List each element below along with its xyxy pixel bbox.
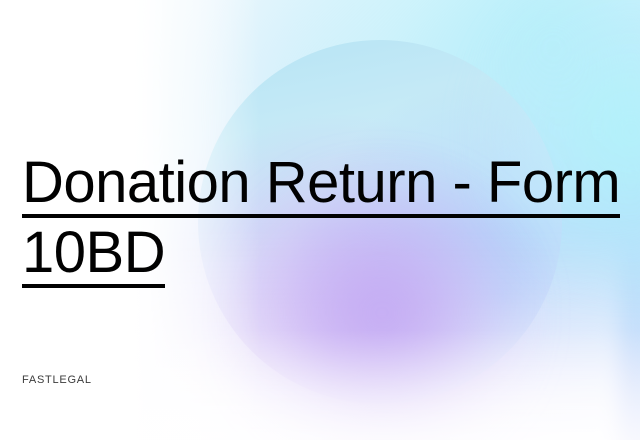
bottom-white-vignette [0,330,640,440]
page-title-line-2: 10BD [22,220,165,288]
brand-wordmark: FASTLEGAL [22,374,92,386]
slide-canvas: Donation Return - Form10BD FASTLEGAL [0,0,640,440]
page-title-line-1: Donation Return - Form [22,150,620,218]
page-title: Donation Return - Form10BD [22,148,622,288]
